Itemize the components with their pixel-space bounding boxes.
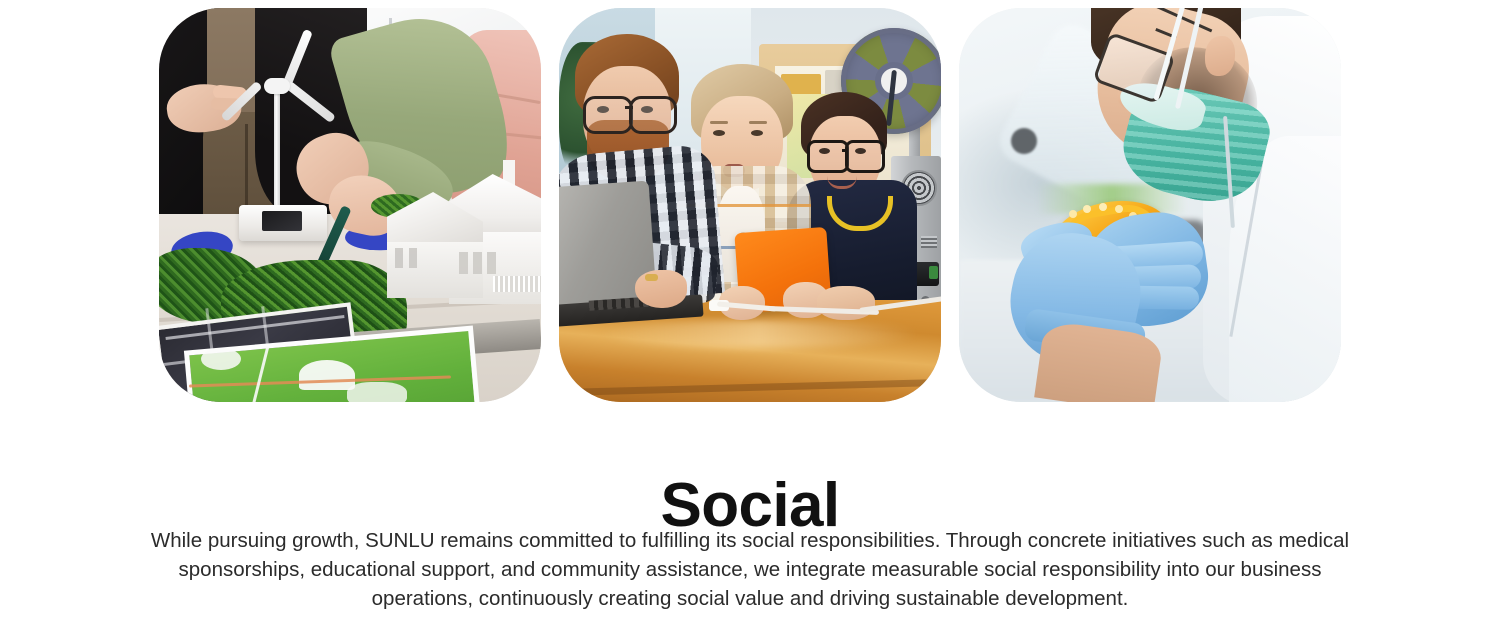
gallery-image-medical-dental-lab xyxy=(959,8,1341,402)
gallery-image-sustainable-planning xyxy=(159,8,541,402)
child-eyeglasses xyxy=(807,140,849,173)
section-paragraph: While pursuing growth, SUNLU remains com… xyxy=(150,526,1350,613)
education-3d-printing-scene xyxy=(559,8,941,402)
social-section: Social While pursuing growth, SUNLU rema… xyxy=(0,0,1500,625)
sustainable-planning-scene xyxy=(159,8,541,402)
image-gallery xyxy=(159,8,1341,402)
turbine-base-panel xyxy=(262,211,302,231)
gallery-image-education-3d-printing xyxy=(559,8,941,402)
teacher-eyeglasses xyxy=(583,96,633,134)
wind-turbine-model xyxy=(274,80,280,216)
medical-dental-lab-scene xyxy=(959,8,1341,402)
